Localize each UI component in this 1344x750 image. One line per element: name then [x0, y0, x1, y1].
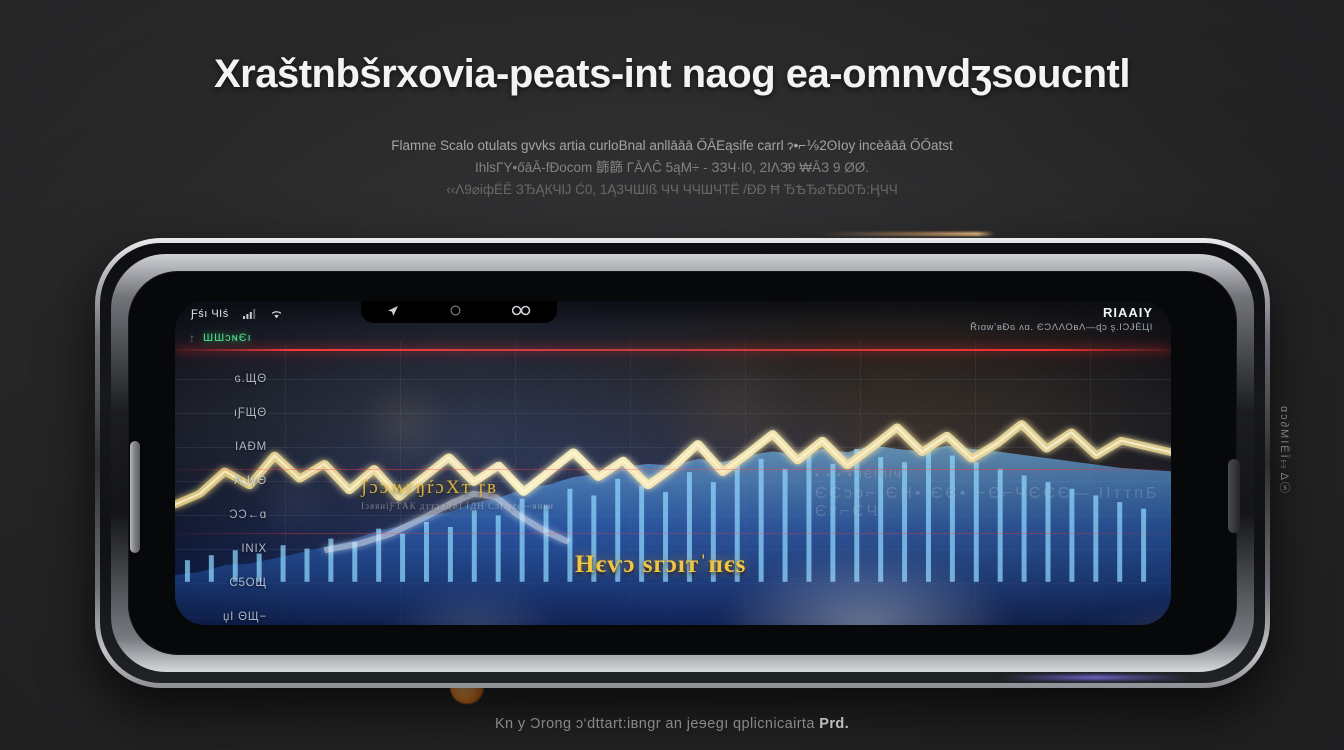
y-tick: ƆƆ←ɑ [193, 509, 267, 521]
phone-outer-frame: ɢ.ЩΘ ıƑЩΘ ІАĐΜ Α.ІүΘ ƆƆ←ɑ ІΝІХ Ć5ΟЩ џІ Θ… [95, 238, 1270, 688]
caption-strong: Prd. [819, 716, 849, 732]
annotation-primary-sub: ІɔяяиіƑŤАК дттɔɔД⌀І ІДН СɔІ.уєє—яиги [361, 501, 554, 512]
arrow-up-icon: ↑ [189, 331, 196, 345]
y-tick: џІ ΘЩ− [193, 611, 267, 623]
annotation-primary-text: ʃɔɔʍгŋŕɔХт ŗв [361, 477, 498, 498]
alert-threshold-line [175, 349, 1171, 351]
annotation-ghost-row1: ▪ ▪ ▪ ▪ ІЄІИІЧ [815, 469, 903, 481]
annotation-ghost-row2: ЄЄɔɔ⌐ ЄΗ• ЄЄ• ⌐Є⌐ЧЄЄЄ— ІІттпБ Єт⌐ЄЧ [815, 485, 1171, 521]
status-badge-label: ШШɔɴЄı [203, 332, 252, 344]
y-tick: ІАĐΜ [193, 441, 267, 453]
moon-icon [450, 305, 461, 319]
page-subtitle: Flamne Scalo otulats gvvks artia curloBn… [292, 135, 1052, 201]
y-tick: Α.ІүΘ [193, 475, 267, 487]
chart-app: ɢ.ЩΘ ıƑЩΘ ІАĐΜ Α.ІүΘ ƆƆ←ɑ ІΝІХ Ć5ΟЩ џІ Θ… [175, 301, 1171, 625]
location-arrow-icon [387, 305, 399, 320]
y-tick: ɢ.ЩΘ [193, 373, 267, 385]
y-tick: ІΝІХ [193, 543, 267, 555]
chart-y-axis: ɢ.ЩΘ ıƑЩΘ ІАĐΜ Α.ІүΘ ƆƆ←ɑ ІΝІХ Ć5ΟЩ џІ Θ… [193, 301, 267, 625]
status-time: Ƒśı ЧІś [191, 308, 229, 320]
camera-module [1228, 459, 1240, 533]
y-tick: Ć5ΟЩ [193, 577, 267, 589]
phone-mockup: ɢ.ЩΘ ıƑЩΘ ІАĐΜ Α.ІүΘ ƆƆ←ɑ ІΝІХ Ć5ΟЩ џІ Θ… [95, 238, 1270, 688]
annotation-primary: ʃɔɔʍгŋŕɔХт ŗв ІɔяяиіƑŤАК дттɔɔД⌀І ІДН Сɔ… [361, 477, 554, 512]
subtitle-line-3: ‹‹Λ9⌀іфЁĚ ЗЂĄКЧĲ Ć0, 1Ą3ЧШІß ЧЧ ЧЧШЧTЁ /… [292, 179, 1052, 201]
phone-bezel: ɢ.ЩΘ ıƑЩΘ ІАĐΜ Α.ІүΘ ƆƆ←ɑ ІΝІХ Ć5ΟЩ џІ Θ… [128, 271, 1237, 655]
phone-inner-frame: ɢ.ЩΘ ıƑЩΘ ІАĐΜ Α.ІүΘ ƆƆ←ɑ ІΝІХ Ć5ΟЩ џІ Θ… [111, 254, 1254, 672]
signal-icon [243, 309, 256, 319]
subtitle-line-2: ΙhlsΓΥ•őāĀ-fĐocom 篩篩 ΓĀΛĈ 5ąМ÷ - ЗЗЧ·Ι0,… [292, 157, 1052, 179]
app-header-right: RIAAIY ŘıɑwʼʙĐɢ ʌɑ. ЄƆΛΛΟʙΛ—ɖɔ ş.ІƆɈЀЦІ [970, 305, 1153, 333]
display-notch [361, 301, 557, 323]
annotation-secondary: Hєѵɔ ѕгɔıтˈпєѕ [575, 551, 746, 579]
page-caption: Kn у Ɔrong ɔ‘dttаrt:івngr an јeɘegı qplі… [495, 716, 849, 732]
phone-mid-frame: ɢ.ЩΘ ıƑЩΘ ІАĐΜ Α.ІүΘ ƆƆ←ɑ ІΝІХ Ć5ΟЩ џІ Θ… [100, 243, 1265, 683]
device-brand-text: ɑɔ∂ΜІЁЇ⑄Δⓢ [1276, 406, 1292, 495]
app-header-subtitle: ŘıɑwʼʙĐɢ ʌɑ. ЄƆΛΛΟʙΛ—ɖɔ ş.ІƆɈЀЦІ [970, 322, 1153, 333]
app-header-title: RIAAIY [970, 305, 1153, 320]
subtitle-line-1: Flamne Scalo otulats gvvks artia curloBn… [292, 135, 1052, 157]
page-title: Xraštnbšrхovia-peats-int naog ea-omnvdʒs… [0, 52, 1344, 97]
top-light-streak [820, 232, 995, 236]
y-tick: ıƑЩΘ [193, 407, 267, 419]
annotation-ghost: ▪ ▪ ▪ ▪ ІЄІИІЧ ЄЄɔɔ⌐ ЄΗ• ЄЄ• ⌐Є⌐ЧЄЄЄ— ІІ… [815, 469, 1171, 521]
wifi-icon [270, 309, 283, 319]
caption-text: Kn у Ɔrong ɔ‘dttаrt:івngr an јeɘegı qplі… [495, 716, 819, 732]
status-badge[interactable]: ↑ ШШɔɴЄı [189, 331, 252, 345]
bottom-accent-light [1000, 675, 1190, 680]
camera-icon [512, 305, 532, 319]
power-button[interactable] [130, 441, 140, 553]
phone-screen[interactable]: ɢ.ЩΘ ıƑЩΘ ІАĐΜ Α.ІүΘ ƆƆ←ɑ ІΝІХ Ć5ΟЩ џІ Θ… [175, 301, 1171, 625]
alert-threshold-line-tertiary [175, 533, 1171, 534]
